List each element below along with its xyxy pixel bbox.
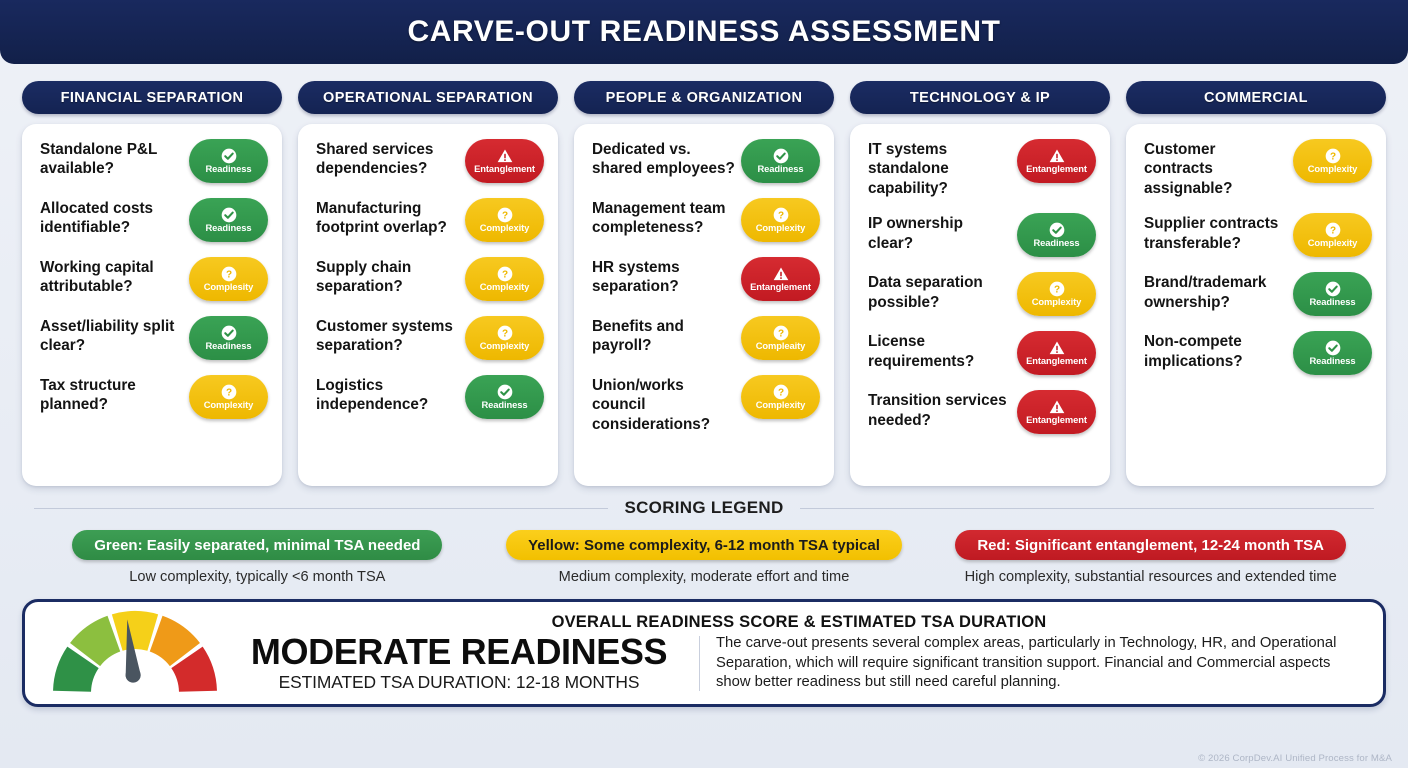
status-badge[interactable]: Readiness — [1293, 272, 1372, 316]
item-question: HR systems separation? — [592, 257, 735, 297]
assessment-item[interactable]: Working capital attributable??Complesity — [40, 257, 268, 301]
status-badge[interactable]: Entanglement — [1017, 331, 1096, 375]
assessment-item[interactable]: Union/works council considerations??Comp… — [592, 375, 820, 434]
column-card: Standalone P&L available?ReadinessAlloca… — [22, 124, 282, 486]
warning-triangle-icon — [1049, 340, 1065, 356]
legend-subtext: Medium complexity, moderate effort and t… — [559, 569, 850, 585]
legend-subtext: High complexity, substantial resources a… — [965, 569, 1337, 585]
status-badge-label: Complexity — [1308, 164, 1358, 174]
assessment-item[interactable]: IP ownership clear?Readiness — [868, 213, 1096, 257]
legend-pill[interactable]: Yellow: Some complexity, 6-12 month TSA … — [506, 530, 902, 560]
item-question: Allocated costs identifiable? — [40, 198, 183, 238]
status-badge-label: Complexity — [204, 400, 254, 410]
status-badge[interactable]: Readiness — [465, 375, 544, 419]
question-circle-icon: ? — [773, 325, 789, 341]
status-badge[interactable]: ?Complexity — [465, 198, 544, 242]
check-circle-icon — [221, 148, 237, 164]
assessment-page: CARVE-OUT READINESS ASSESSMENT FINANCIAL… — [0, 0, 1408, 768]
column-card: Customer contracts assignable??Complexit… — [1126, 124, 1386, 486]
summary-body: OVERALL READINESS SCORE & ESTIMATED TSA … — [235, 613, 1367, 694]
question-circle-icon: ? — [1325, 222, 1341, 238]
question-circle-icon: ? — [773, 207, 789, 223]
status-badge-label: Readiness — [206, 164, 252, 174]
question-circle-icon: ? — [497, 325, 513, 341]
svg-text:?: ? — [777, 210, 783, 221]
status-badge[interactable]: Entanglement — [465, 139, 544, 183]
status-badge[interactable]: Readiness — [1017, 213, 1096, 257]
item-question: Data separation possible? — [868, 272, 1011, 312]
status-badge-label: Complexity — [756, 223, 806, 233]
status-badge-label: Entanglement — [474, 164, 535, 174]
status-badge-label: Entanglement — [750, 282, 811, 292]
assessment-item[interactable]: Data separation possible??Complexity — [868, 272, 1096, 316]
item-question: IT systems standalone capability? — [868, 139, 1011, 198]
footer-copyright: © 2026 CorpDev.AI Unified Process for M&… — [1198, 753, 1392, 764]
gauge-svg — [35, 601, 235, 705]
readiness-gauge — [35, 601, 235, 705]
status-badge-label: Entanglement — [1026, 356, 1087, 366]
summary-columns: MODERATE READINESS ESTIMATED TSA DURATIO… — [235, 634, 1363, 694]
status-badge[interactable]: Readiness — [1293, 331, 1372, 375]
status-badge[interactable]: ?Complexity — [189, 375, 268, 419]
svg-text:?: ? — [1053, 285, 1059, 296]
svg-text:?: ? — [777, 328, 783, 339]
status-badge[interactable]: ?Complexity — [741, 375, 820, 419]
assessment-columns: FINANCIAL SEPARATIONStandalone P&L avail… — [0, 64, 1408, 486]
summary-eyebrow: OVERALL READINESS SCORE & ESTIMATED TSA … — [235, 613, 1363, 632]
status-badge[interactable]: ?Complexity — [1293, 213, 1372, 257]
status-badge-label: Complexity — [1308, 238, 1358, 248]
column-header: COMMERCIAL — [1126, 81, 1386, 114]
column-header: OPERATIONAL SEPARATION — [298, 81, 558, 114]
item-question: Asset/liability split clear? — [40, 316, 183, 356]
status-badge-label: Readiness — [1310, 356, 1356, 366]
item-question: Management team completeness? — [592, 198, 735, 238]
status-badge-label: Readiness — [1034, 238, 1080, 248]
legend-rule-right — [800, 508, 1374, 509]
status-badge[interactable]: ?Complexity — [465, 316, 544, 360]
assessment-item[interactable]: HR systems separation?Entanglement — [592, 257, 820, 301]
svg-text:?: ? — [501, 328, 507, 339]
check-circle-icon — [497, 384, 513, 400]
warning-triangle-icon — [1049, 148, 1065, 164]
question-circle-icon: ? — [497, 266, 513, 282]
assessment-item[interactable]: Customer systems separation??Complexity — [316, 316, 544, 360]
assessment-item[interactable]: Transition services needed?Entanglement — [868, 390, 1096, 434]
item-question: Supplier contracts transferable? — [1144, 213, 1287, 253]
status-badge-label: Readiness — [1310, 297, 1356, 307]
warning-triangle-icon — [773, 266, 789, 282]
column-card: IT systems standalone capability?Entangl… — [850, 124, 1110, 486]
legend-entry: Red: Significant entanglement, 12-24 mon… — [927, 530, 1374, 585]
legend-title: SCORING LEGEND — [624, 498, 783, 518]
status-badge[interactable]: Readiness — [189, 139, 268, 183]
item-question: Union/works council considerations? — [592, 375, 735, 434]
scoring-legend: SCORING LEGEND Green: Easily separated, … — [0, 498, 1408, 585]
item-question: Standalone P&L available? — [40, 139, 183, 179]
status-badge-label: Complexity — [1032, 297, 1082, 307]
column-card: Dedicated vs. shared employees?Readiness… — [574, 124, 834, 486]
status-badge[interactable]: ?Compleaity — [741, 316, 820, 360]
assessment-item[interactable]: Allocated costs identifiable?Readiness — [40, 198, 268, 242]
item-question: Transition services needed? — [868, 390, 1011, 430]
status-badge[interactable]: Entanglement — [741, 257, 820, 301]
check-circle-icon — [1049, 222, 1065, 238]
svg-text:?: ? — [225, 387, 231, 398]
status-badge[interactable]: ?Complexity — [465, 257, 544, 301]
legend-pill[interactable]: Green: Easily separated, minimal TSA nee… — [72, 530, 442, 560]
question-circle-icon: ? — [497, 207, 513, 223]
status-badge-label: Complexity — [480, 223, 530, 233]
assessment-column: TECHNOLOGY & IPIT systems standalone cap… — [850, 81, 1110, 486]
question-circle-icon: ? — [221, 384, 237, 400]
gauge-hub — [126, 668, 141, 683]
summary-description: The carve-out presents several complex a… — [700, 634, 1363, 693]
svg-text:?: ? — [225, 269, 231, 280]
status-badge-label: Readiness — [482, 400, 528, 410]
question-circle-icon: ? — [221, 266, 237, 282]
legend-entry: Yellow: Some complexity, 6-12 month TSA … — [481, 530, 928, 585]
item-question: Brand/trademark ownership? — [1144, 272, 1287, 312]
summary-panel: OVERALL READINESS SCORE & ESTIMATED TSA … — [22, 599, 1386, 707]
warning-triangle-icon — [1049, 399, 1065, 415]
assessment-column: PEOPLE & ORGANIZATIONDedicated vs. share… — [574, 81, 834, 486]
assessment-column: FINANCIAL SEPARATIONStandalone P&L avail… — [22, 81, 282, 486]
status-badge[interactable]: Readiness — [189, 316, 268, 360]
assessment-item[interactable]: IT systems standalone capability?Entangl… — [868, 139, 1096, 198]
item-question: Shared services dependencies? — [316, 139, 459, 179]
assessment-item[interactable]: Customer contracts assignable??Complexit… — [1144, 139, 1372, 198]
status-badge[interactable]: Entanglement — [1017, 390, 1096, 434]
assessment-item[interactable]: Logistics independence?Readiness — [316, 375, 544, 419]
assessment-item[interactable]: Supplier contracts transferable??Complex… — [1144, 213, 1372, 257]
question-circle-icon: ? — [773, 384, 789, 400]
status-badge-label: Readiness — [758, 164, 804, 174]
column-header: TECHNOLOGY & IP — [850, 81, 1110, 114]
status-badge-label: Entanglement — [1026, 415, 1087, 425]
warning-triangle-icon — [497, 148, 513, 164]
check-circle-icon — [221, 325, 237, 341]
page-title: CARVE-OUT READINESS ASSESSMENT — [407, 15, 1000, 49]
summary-score-block: MODERATE READINESS ESTIMATED TSA DURATIO… — [235, 634, 699, 694]
svg-text:?: ? — [501, 269, 507, 280]
assessment-item[interactable]: Brand/trademark ownership?Readiness — [1144, 272, 1372, 316]
item-question: Tax structure planned? — [40, 375, 183, 415]
status-badge[interactable]: ?Complexity — [741, 198, 820, 242]
status-badge-label: Readiness — [206, 223, 252, 233]
assessment-item[interactable]: Benefits and payroll??Compleaity — [592, 316, 820, 360]
status-badge[interactable]: Readiness — [741, 139, 820, 183]
assessment-item[interactable]: Asset/liability split clear?Readiness — [40, 316, 268, 360]
legend-items: Green: Easily separated, minimal TSA nee… — [34, 530, 1374, 585]
svg-text:?: ? — [501, 210, 507, 221]
assessment-item[interactable]: Tax structure planned??Complexity — [40, 375, 268, 419]
column-card: Shared services dependencies?Entanglemen… — [298, 124, 558, 486]
item-question: Customer systems separation? — [316, 316, 459, 356]
item-question: Benefits and payroll? — [592, 316, 735, 356]
assessment-item[interactable]: Management team completeness??Complexity — [592, 198, 820, 242]
page-header: CARVE-OUT READINESS ASSESSMENT — [0, 0, 1408, 64]
check-circle-icon — [1325, 281, 1341, 297]
check-circle-icon — [1325, 340, 1341, 356]
tsa-duration: ESTIMATED TSA DURATION: 12-18 MONTHS — [235, 672, 683, 693]
assessment-item[interactable]: Manufacturing footprint overlap??Complex… — [316, 198, 544, 242]
legend-title-row: SCORING LEGEND — [34, 498, 1374, 518]
status-badge[interactable]: ?Complexity — [1293, 139, 1372, 183]
item-question: Manufacturing footprint overlap? — [316, 198, 459, 238]
check-circle-icon — [773, 148, 789, 164]
item-question: Working capital attributable? — [40, 257, 183, 297]
status-badge[interactable]: Readiness — [189, 198, 268, 242]
assessment-item[interactable]: Dedicated vs. shared employees?Readiness — [592, 139, 820, 183]
question-circle-icon: ? — [1325, 148, 1341, 164]
status-badge-label: Complexity — [756, 400, 806, 410]
status-badge-label: Compleaity — [756, 341, 806, 351]
svg-text:?: ? — [1329, 226, 1335, 237]
assessment-item[interactable]: Supply chain separation??Complexity — [316, 257, 544, 301]
status-badge-label: Readiness — [206, 341, 252, 351]
status-badge-label: Complexity — [480, 341, 530, 351]
column-header: FINANCIAL SEPARATION — [22, 81, 282, 114]
assessment-item[interactable]: Non-compete implications?Readiness — [1144, 331, 1372, 375]
item-question: Non-compete implications? — [1144, 331, 1287, 371]
legend-entry: Green: Easily separated, minimal TSA nee… — [34, 530, 481, 585]
item-question: Supply chain separation? — [316, 257, 459, 297]
legend-subtext: Low complexity, typically <6 month TSA — [129, 569, 385, 585]
svg-text:?: ? — [1329, 151, 1335, 162]
assessment-item[interactable]: Shared services dependencies?Entanglemen… — [316, 139, 544, 183]
column-header: PEOPLE & ORGANIZATION — [574, 81, 834, 114]
status-badge-label: Complexity — [480, 282, 530, 292]
item-question: Logistics independence? — [316, 375, 459, 415]
status-badge[interactable]: Entanglement — [1017, 139, 1096, 183]
status-badge-label: Complesity — [204, 282, 254, 292]
item-question: Customer contracts assignable? — [1144, 139, 1287, 198]
assessment-column: COMMERCIALCustomer contracts assignable?… — [1126, 81, 1386, 486]
item-question: License requirements? — [868, 331, 1011, 371]
svg-text:?: ? — [777, 387, 783, 398]
assessment-item[interactable]: License requirements?Entanglement — [868, 331, 1096, 375]
question-circle-icon: ? — [1049, 281, 1065, 297]
legend-pill[interactable]: Red: Significant entanglement, 12-24 mon… — [955, 530, 1346, 560]
item-question: IP ownership clear? — [868, 213, 1011, 253]
status-badge[interactable]: ?Complesity — [189, 257, 268, 301]
item-question: Dedicated vs. shared employees? — [592, 139, 735, 179]
check-circle-icon — [221, 207, 237, 223]
status-badge[interactable]: ?Complexity — [1017, 272, 1096, 316]
assessment-item[interactable]: Standalone P&L available?Readiness — [40, 139, 268, 183]
readiness-score: MODERATE READINESS — [235, 634, 683, 671]
legend-rule-left — [34, 508, 608, 509]
status-badge-label: Entanglement — [1026, 164, 1087, 174]
assessment-column: OPERATIONAL SEPARATIONShared services de… — [298, 81, 558, 486]
